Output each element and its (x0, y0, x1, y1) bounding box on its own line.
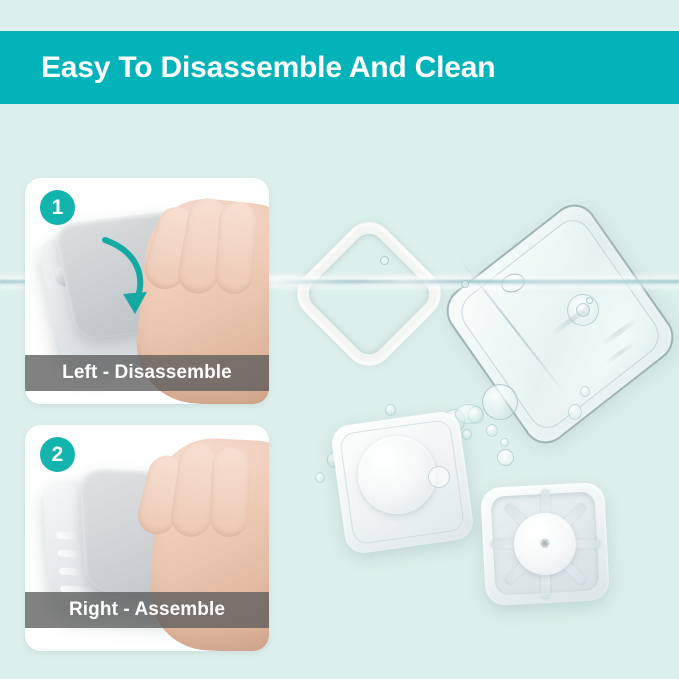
water-droplet-icon (380, 256, 389, 265)
water-droplet-icon (586, 297, 593, 304)
step-card-1: 1 Left - Disassemble (25, 178, 269, 404)
water-droplet-icon (568, 404, 582, 420)
step-caption-bar-1: Left - Disassemble (25, 355, 269, 391)
step-caption-text-2: Right - Assemble (69, 599, 225, 621)
infographic-page: Easy To Disassemble And Clean (0, 0, 679, 679)
water-droplet-icon (315, 472, 325, 483)
step-caption-bar-2: Right - Assemble (25, 592, 269, 628)
curved-down-arrow-icon (95, 230, 165, 322)
water-droplet-icon (385, 404, 396, 416)
finger-photo (214, 201, 258, 295)
step-badge-2: 2 (40, 437, 75, 472)
water-droplet-icon (461, 280, 469, 288)
water-droplet-icon (486, 424, 498, 437)
screw-icon: ✺ (538, 537, 552, 551)
page-title: Easy To Disassemble And Clean (41, 51, 495, 85)
water-droplet-icon (462, 429, 472, 440)
header-banner: Easy To Disassemble And Clean (0, 31, 679, 104)
step-caption-text-1: Left - Disassemble (62, 362, 232, 384)
container-porthole (482, 384, 518, 420)
container-small-port (497, 449, 514, 466)
water-droplet-icon (500, 438, 509, 447)
water-droplet-icon (455, 404, 483, 424)
step-badge-1: 1 (40, 190, 75, 225)
step-card-2: 2 Right - Assemble (25, 425, 269, 651)
gasket-highlight (287, 212, 451, 376)
water-foam-right (330, 274, 480, 288)
water-droplet-icon (580, 386, 590, 397)
finger-photo (209, 446, 250, 537)
